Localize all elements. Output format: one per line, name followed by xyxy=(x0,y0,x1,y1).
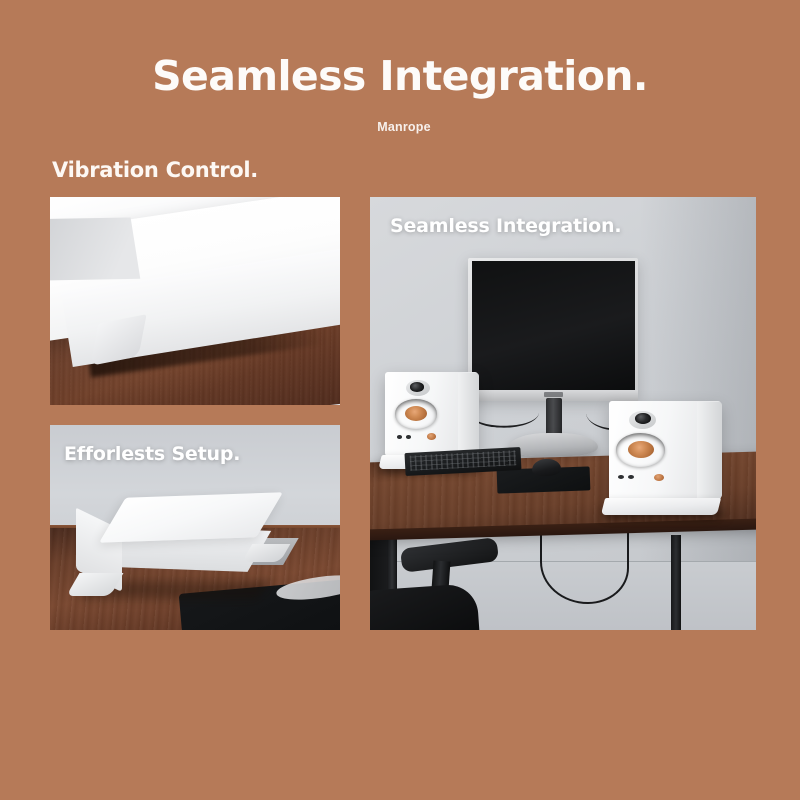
monitor-stand-base xyxy=(509,433,598,456)
image-panel-riser-setup[interactable]: Efforlests Setup. xyxy=(50,425,340,630)
caption-seamless-integration: Seamless Integration. xyxy=(390,215,621,237)
chair-seat xyxy=(370,583,480,630)
monitor-screen xyxy=(472,261,635,393)
page-header: Seamless Integration. Manrope xyxy=(0,0,800,160)
monitor-logo xyxy=(544,392,563,397)
keyboard-keys xyxy=(409,451,516,472)
woofer-cone xyxy=(628,441,654,458)
riser-inner-face xyxy=(50,217,139,280)
font-name-label: Manrope xyxy=(0,120,800,134)
desk-leg-right xyxy=(671,535,681,630)
caption-vibration-control: Vibration Control. xyxy=(52,158,258,182)
caption-effortless-setup: Efforlests Setup. xyxy=(64,443,240,465)
speaker-riser-stand xyxy=(601,498,722,515)
speaker-side-panel xyxy=(458,373,478,455)
volume-knob[interactable] xyxy=(654,474,664,481)
tweeter-icon xyxy=(635,413,651,424)
riser-top-surface xyxy=(99,492,283,542)
image-panel-desk-scene[interactable]: Seamless Integration. xyxy=(370,197,756,630)
speaker-led-left xyxy=(397,435,403,439)
speaker-side-panel xyxy=(697,402,722,499)
image-panel-riser-angle[interactable] xyxy=(50,197,340,405)
woofer-cone xyxy=(405,406,427,421)
page-title: Seamless Integration. xyxy=(0,52,800,100)
speaker-right xyxy=(609,401,721,514)
